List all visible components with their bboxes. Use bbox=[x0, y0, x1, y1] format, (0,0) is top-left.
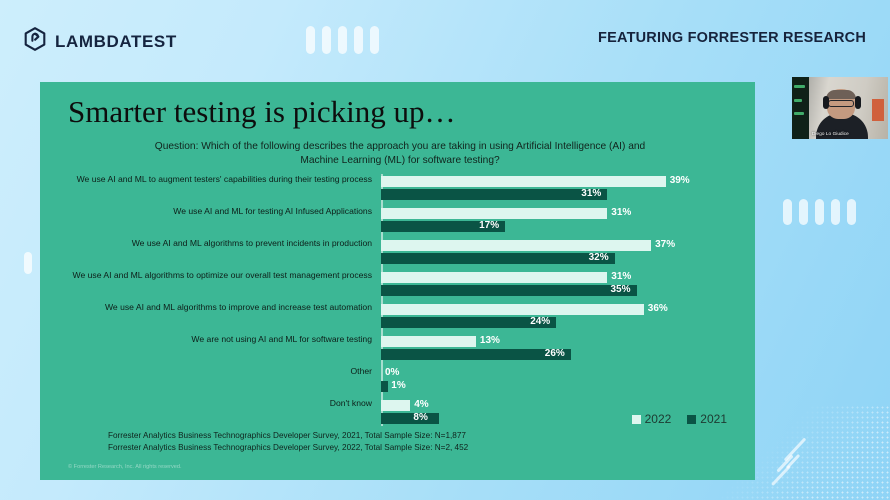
chart-bar-value: 26% bbox=[545, 348, 565, 359]
copyright-text: © Forrester Research, Inc. All rights re… bbox=[68, 464, 182, 470]
chart-bar-2021 bbox=[381, 285, 637, 296]
slide-title: Smarter testing is picking up… bbox=[68, 94, 455, 130]
chart-category-label: Don't know bbox=[60, 398, 372, 409]
legend-label-2022: 2022 bbox=[645, 412, 672, 426]
chart-bar-value: 31% bbox=[581, 188, 601, 199]
chart-bar-value: 8% bbox=[413, 412, 427, 423]
chart-row: We use AI and ML algorithms to improve a… bbox=[40, 302, 755, 334]
featuring-text: FEATURING FORRESTER RESEARCH bbox=[598, 30, 866, 46]
chart-category-label: We use AI and ML algorithms to prevent i… bbox=[60, 238, 372, 249]
chart-bar-2021 bbox=[381, 413, 439, 424]
chart-bar-2022 bbox=[381, 208, 607, 219]
chart-row: We are not using AI and ML for software … bbox=[40, 334, 755, 366]
chart-category-label: Other bbox=[60, 366, 372, 377]
decorative-bars-right bbox=[783, 199, 856, 225]
chart-legend: 2022 2021 bbox=[632, 412, 727, 426]
chart-category-label: We use AI and ML for testing AI Infused … bbox=[60, 206, 372, 217]
brand-name: LAMBDATEST bbox=[55, 32, 177, 52]
chart-bar-value: 32% bbox=[589, 252, 609, 263]
webcam-video-tile[interactable]: Diego Lo Giudice bbox=[792, 77, 888, 139]
chart-bar-value: 17% bbox=[479, 220, 499, 231]
chart-category-label: We use AI and ML algorithms to improve a… bbox=[60, 302, 372, 313]
chart-bar-2022 bbox=[381, 336, 476, 347]
chart-bar-2022 bbox=[381, 400, 410, 411]
presentation-slide[interactable]: Smarter testing is picking up… Question:… bbox=[40, 82, 755, 480]
source-note-line: Forrester Analytics Business Technograph… bbox=[108, 430, 468, 442]
legend-item-2021: 2021 bbox=[687, 412, 727, 426]
chart-bar-2022 bbox=[381, 272, 607, 283]
chart-bar-value: 31% bbox=[611, 271, 631, 282]
chart-bar-2022 bbox=[381, 176, 666, 187]
brand-logo: LAMBDATEST bbox=[24, 27, 177, 56]
chart-row: We use AI and ML to augment testers' cap… bbox=[40, 174, 755, 206]
chart-bar-value: 4% bbox=[414, 399, 428, 410]
chart-bar-value: 0% bbox=[385, 367, 399, 378]
chart-bar-2021 bbox=[381, 253, 615, 264]
chart-category-label: We are not using AI and ML for software … bbox=[60, 334, 372, 345]
chart-bar-value: 24% bbox=[530, 316, 550, 327]
chart-category-label: We use AI and ML to augment testers' cap… bbox=[60, 174, 372, 185]
chart-row: We use AI and ML algorithms to prevent i… bbox=[40, 238, 755, 270]
chart-bar-2021 bbox=[381, 349, 571, 360]
webcam-wall-art bbox=[872, 99, 884, 121]
webcam-side-panel bbox=[792, 77, 809, 139]
chart-bar-2022 bbox=[381, 240, 651, 251]
chart-row: Other0%1% bbox=[40, 366, 755, 398]
chart-bar-value: 35% bbox=[611, 284, 631, 295]
chart-bar-2021 bbox=[381, 381, 388, 392]
chart-category-label: We use AI and ML algorithms to optimize … bbox=[60, 270, 372, 281]
chart-bar-2021 bbox=[381, 189, 607, 200]
legend-swatch-2022 bbox=[632, 415, 641, 424]
legend-swatch-2021 bbox=[687, 415, 696, 424]
chart-bar-value: 36% bbox=[648, 303, 668, 314]
chart-bar-value: 1% bbox=[391, 380, 405, 391]
chart-bar-value: 31% bbox=[611, 207, 631, 218]
lambdatest-hexagon-arrow-logo-icon bbox=[24, 27, 46, 56]
chart-bar-2022 bbox=[381, 304, 644, 315]
legend-item-2022: 2022 bbox=[632, 412, 672, 426]
decorative-bar-left bbox=[24, 252, 32, 274]
chart-bar-value: 37% bbox=[655, 239, 675, 250]
legend-label-2021: 2021 bbox=[700, 412, 727, 426]
decorative-bars-top bbox=[306, 26, 379, 54]
source-note-line: Forrester Analytics Business Technograph… bbox=[108, 442, 468, 454]
slide-question: Question: Which of the following describ… bbox=[135, 140, 665, 168]
chart-row: We use AI and ML algorithms to optimize … bbox=[40, 270, 755, 302]
chart-row: We use AI and ML for testing AI Infused … bbox=[40, 206, 755, 238]
webcam-participant-name: Diego Lo Giudice bbox=[812, 131, 849, 136]
chart-bar-value: 39% bbox=[670, 175, 690, 186]
chart-bar-value: 13% bbox=[480, 335, 500, 346]
bar-chart: We use AI and ML to augment testers' cap… bbox=[40, 174, 755, 432]
source-notes: Forrester Analytics Business Technograph… bbox=[108, 430, 468, 454]
